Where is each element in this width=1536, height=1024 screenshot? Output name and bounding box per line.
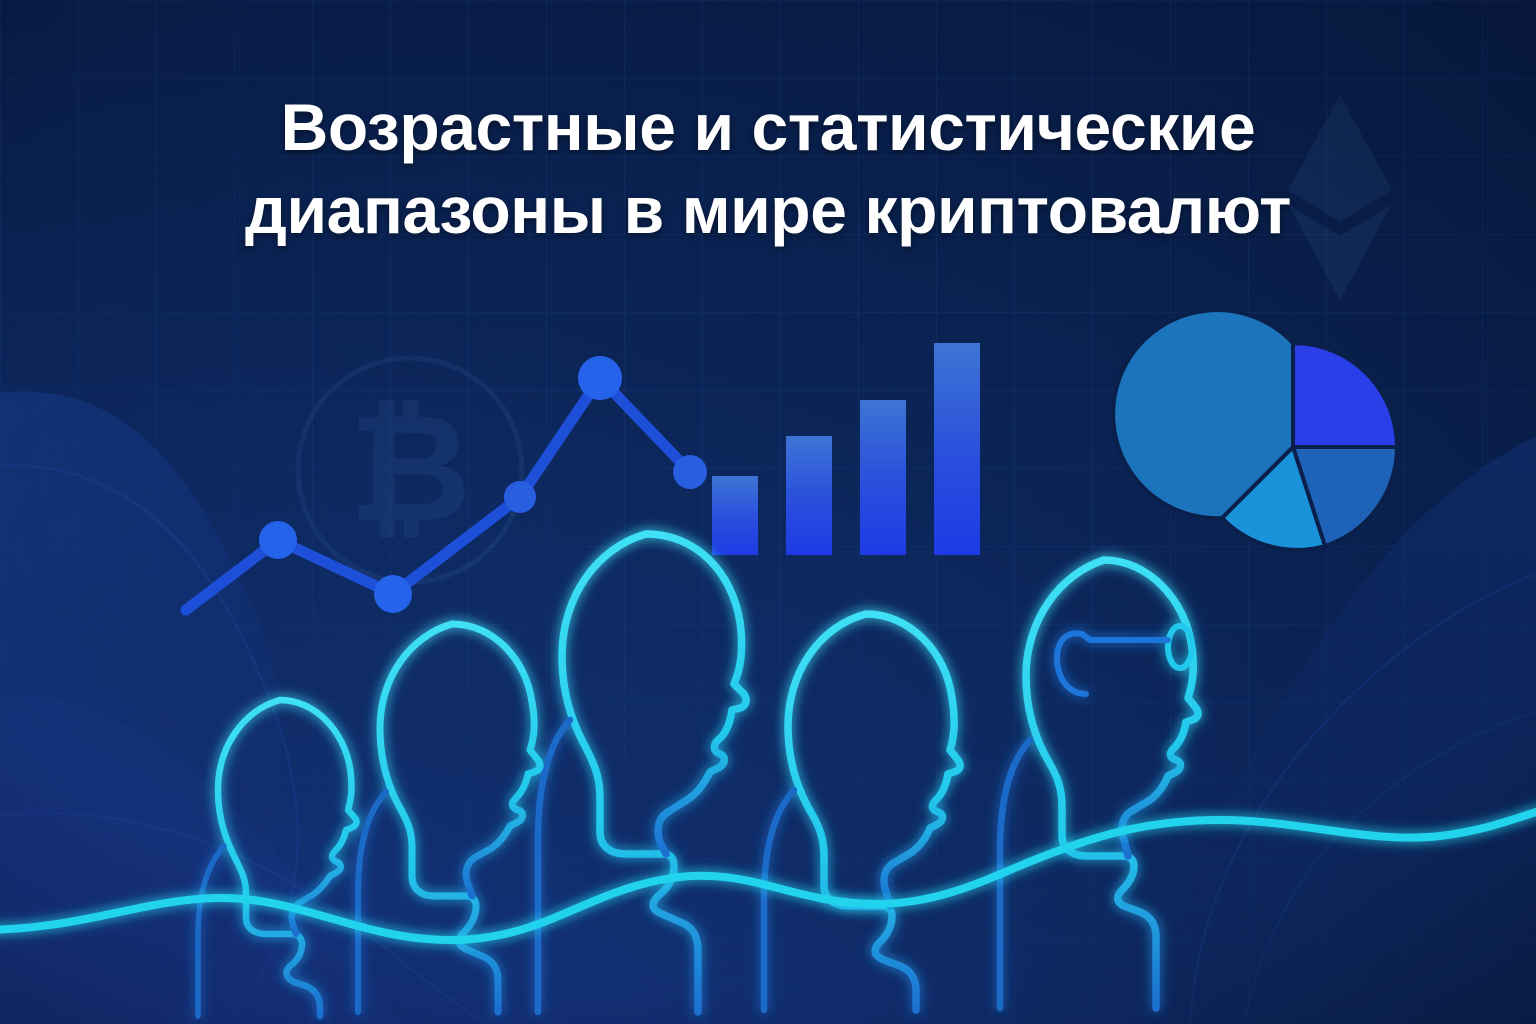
teen-head-outline bbox=[380, 624, 498, 1012]
senior-ear-icon bbox=[1057, 633, 1086, 694]
adult-shoulder bbox=[764, 790, 794, 1010]
young-adult-profile bbox=[538, 534, 746, 1012]
young-adult-head-outline bbox=[562, 534, 698, 1012]
senior-glasses-arm-icon bbox=[1082, 634, 1168, 640]
illustration-layer bbox=[0, 0, 1536, 1024]
child-head-outline bbox=[218, 700, 320, 1016]
bar-chart-bar bbox=[860, 400, 906, 555]
senior-head-outline bbox=[1026, 560, 1156, 1008]
line-chart-point bbox=[504, 481, 536, 513]
child-profile bbox=[198, 700, 356, 1016]
line-chart-point bbox=[374, 575, 412, 613]
child-shoulder bbox=[198, 846, 224, 1016]
line-chart-point bbox=[673, 455, 707, 489]
line-chart-point bbox=[578, 356, 622, 400]
teen-shoulder bbox=[358, 792, 386, 1012]
infographic-cover: ₿ bbox=[0, 0, 1536, 1024]
bar-chart-bar bbox=[934, 343, 980, 555]
profile-silhouettes bbox=[198, 534, 1198, 1016]
adult-profile bbox=[764, 614, 960, 1010]
line-chart-point bbox=[259, 521, 297, 559]
teen-profile bbox=[358, 624, 540, 1012]
line-chart bbox=[186, 356, 707, 613]
bar-chart bbox=[712, 343, 980, 555]
bar-chart-bar bbox=[712, 476, 758, 555]
line-chart-path bbox=[186, 378, 690, 610]
pie-chart bbox=[1113, 310, 1397, 550]
teen-face-profile bbox=[452, 624, 540, 896]
child-face-profile bbox=[280, 700, 356, 934]
pie-slice bbox=[1293, 343, 1397, 447]
senior-face-profile bbox=[1104, 560, 1198, 856]
bar-chart-bar bbox=[786, 436, 832, 555]
adult-face-profile bbox=[866, 614, 960, 906]
young-adult-face-profile bbox=[646, 534, 746, 854]
adult-head-outline bbox=[788, 614, 916, 1010]
senior-profile-glasses bbox=[1000, 560, 1198, 1008]
